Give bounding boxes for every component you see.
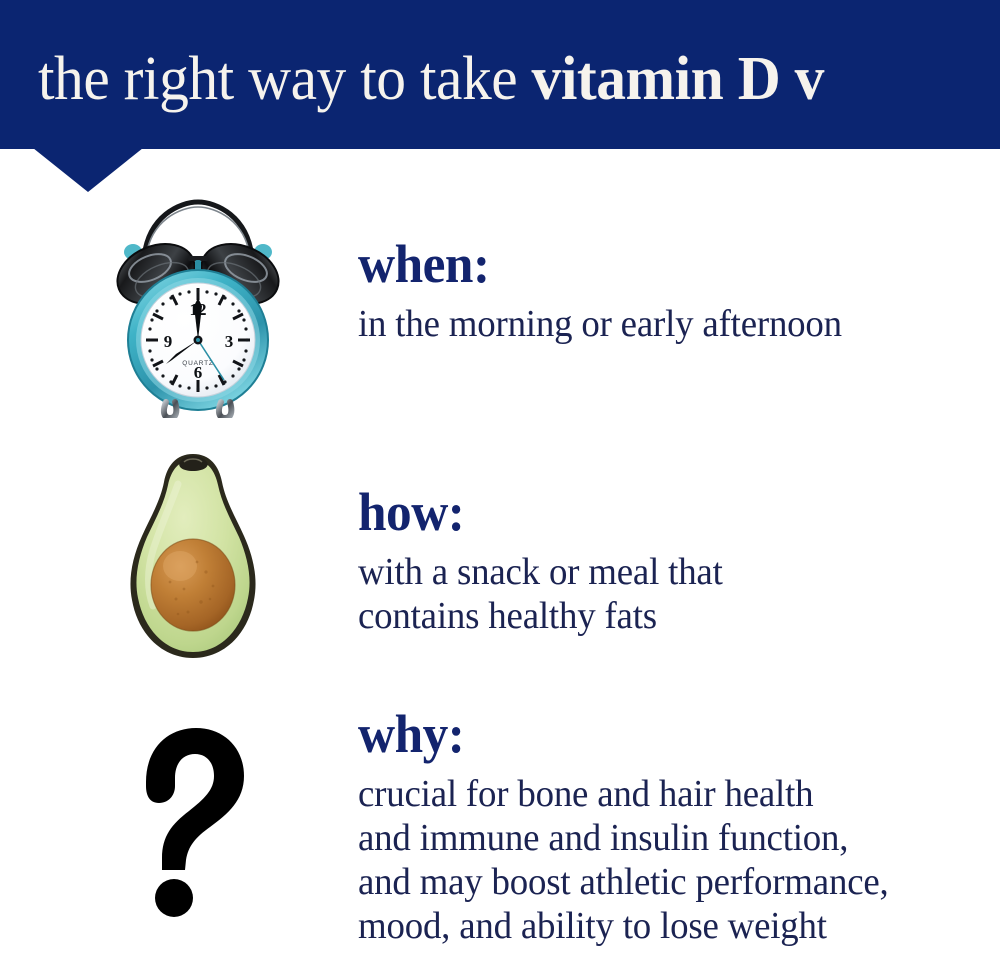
section-how-body: with a snack or meal that contains healt… (358, 550, 979, 638)
body-line: in the morning or early afternoon (358, 302, 979, 346)
body-line: and may boost athletic performance, (358, 860, 979, 904)
page-title: the right way to take vitamin D v (38, 46, 960, 112)
section-how-text: how: with a snack or meal that contains … (358, 484, 998, 638)
alarm-clock-icon: 12 3 6 9 QUARTZ (100, 188, 296, 418)
section-why-body: crucial for bone and hair health and imm… (358, 772, 979, 948)
section-how-label: how: (358, 484, 966, 540)
header-banner: the right way to take vitamin D v (0, 0, 1000, 149)
section-when-text: when: in the morning or early afternoon (358, 236, 998, 346)
svg-text:9: 9 (164, 332, 173, 351)
section-when-body: in the morning or early afternoon (358, 302, 979, 346)
section-how: how: with a snack or meal that contains … (0, 484, 1000, 694)
body-line: and immune and insulin function, (358, 816, 979, 860)
page-title-plain: the right way to take (38, 45, 532, 113)
body-line: mood, and ability to lose weight (358, 904, 979, 948)
body-line: with a snack or meal that (358, 550, 979, 594)
section-why: why: crucial for bone and hair health an… (0, 706, 1000, 976)
body-line: crucial for bone and hair health (358, 772, 979, 816)
svg-text:QUARTZ: QUARTZ (182, 360, 213, 367)
section-when: 12 3 6 9 QUARTZ (0, 236, 1000, 406)
body-line: contains healthy fats (358, 594, 979, 638)
page-title-emphasis: vitamin D v (532, 45, 824, 113)
banner-pointer-tail (33, 148, 143, 192)
section-when-label: when: (358, 236, 966, 292)
svg-text:3: 3 (225, 332, 234, 351)
avocado-icon (118, 444, 268, 674)
infographic-poster: the right way to take vitamin D v (0, 0, 1000, 980)
section-why-label: why: (358, 706, 966, 762)
section-why-text: why: crucial for bone and hair health an… (358, 706, 998, 948)
question-mark-icon (110, 720, 260, 920)
